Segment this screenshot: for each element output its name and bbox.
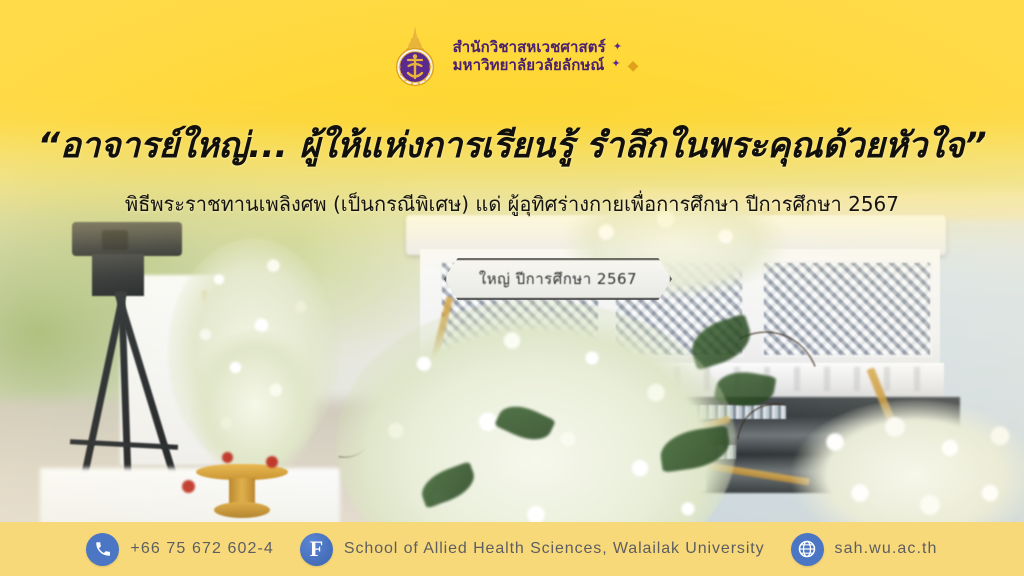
facebook-icon: F <box>300 533 333 566</box>
facebook-page-text: School of Allied Health Sciences, Walail… <box>344 540 765 558</box>
poster-subheadline: พิธีพระราชทานเพลิงศพ (เป็นกรณีพิเศษ) แด่… <box>0 188 1024 220</box>
brand-school-name: สำนักวิชาสหเวชศาสตร์ <box>453 39 606 56</box>
brand-university-name: มหาวิทยาลัยวลัยลักษณ์ <box>453 57 605 74</box>
footer-item-phone[interactable]: +66 75 672 602-4 <box>86 533 274 566</box>
sparkle-icon: ✦ <box>613 42 622 53</box>
contact-footer-bar: +66 75 672 602-4 F School of Allied Heal… <box>0 522 1024 576</box>
facebook-letter: F <box>310 538 323 560</box>
footer-item-website[interactable]: sah.wu.ac.th <box>791 533 938 566</box>
phone-number-text: +66 75 672 602-4 <box>130 540 274 558</box>
walailak-crest-icon <box>386 25 444 87</box>
event-poster: ใหญ่ ปีการศึกษา 2567 <box>0 0 1024 576</box>
brand-lockup: สำนักวิชาสหเวชศาสตร์ ✦ มหาวิทยาลัยวลัยลั… <box>0 24 1024 88</box>
phone-icon <box>86 533 119 566</box>
globe-icon <box>791 533 824 566</box>
poster-headline: “อาจารย์ใหญ่... ผู้ให้แห่งการเรียนรู้ รำ… <box>0 118 1024 173</box>
brand-text-block: สำนักวิชาสหเวชศาสตร์ ✦ มหาวิทยาลัยวลัยลั… <box>453 39 639 74</box>
sparkle-gold-icon: ◆ <box>628 58 639 72</box>
sparkle-icon: ✦ <box>611 59 620 70</box>
brand-line-school: สำนักวิชาสหเวชศาสตร์ ✦ <box>453 39 639 56</box>
brand-line-university: มหาวิทยาลัยวลัยลักษณ์ ✦ ◆ <box>453 57 639 74</box>
footer-item-facebook[interactable]: F School of Allied Health Sciences, Wala… <box>300 533 765 566</box>
website-url-text: sah.wu.ac.th <box>835 540 938 558</box>
